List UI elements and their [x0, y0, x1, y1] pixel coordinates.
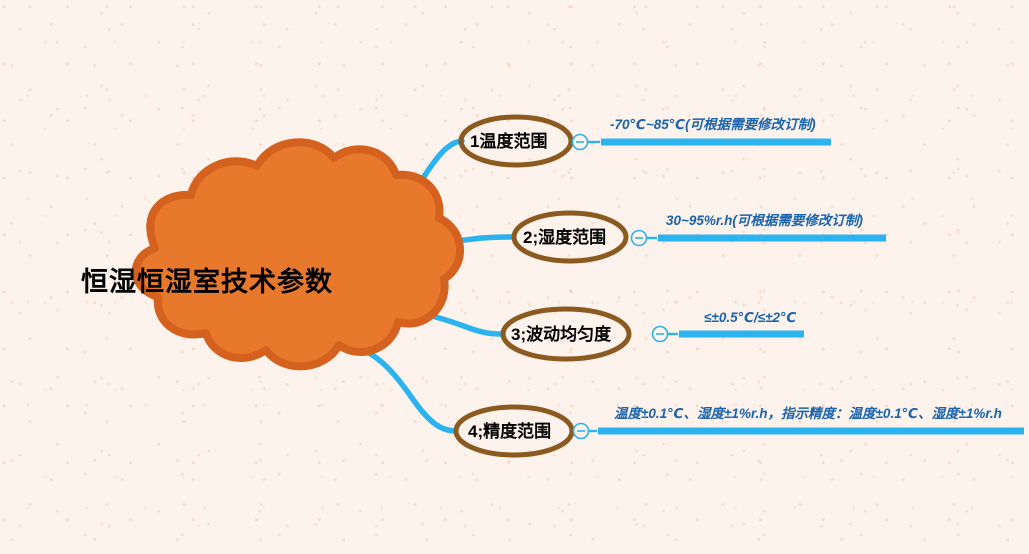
mindmap-canvas: placeholder — [0, 0, 1029, 554]
leaf-detail-4: 温度±0.1℃、湿度±1%r.h，指示精度：温度±0.1℃、湿度±1%r.h — [614, 407, 1002, 421]
collapse-toggle-2[interactable] — [632, 231, 658, 246]
leaf-detail-2: 30~95%r.h(可根据需要修改订制) — [666, 214, 863, 228]
collapse-toggle-4[interactable] — [574, 424, 598, 439]
leaf-underline-group — [598, 142, 1024, 431]
branch-label-1: 1温度范围 — [470, 133, 547, 150]
branch-label-3: 3;波动均匀度 — [511, 326, 611, 343]
collapse-toggle-group — [573, 135, 679, 439]
root-node[interactable]: placeholder — [136, 142, 460, 366]
branch-label-2: 2;湿度范围 — [523, 229, 606, 246]
root-node-label: 恒湿恒湿室技术参数 — [81, 269, 333, 296]
branch-label-4: 4;精度范围 — [468, 423, 551, 440]
collapse-toggle-3[interactable] — [653, 327, 679, 342]
collapse-toggle-1[interactable] — [573, 135, 601, 150]
leaf-detail-1: -70℃~85℃(可根据需要修改订制) — [610, 118, 816, 132]
branch-ellipse-group — [456, 117, 629, 455]
root-cloud-shape[interactable] — [136, 142, 460, 366]
connector-branch-4 — [340, 345, 456, 431]
leaf-detail-3: ≤±0.5℃/≤±2℃ — [704, 311, 796, 325]
